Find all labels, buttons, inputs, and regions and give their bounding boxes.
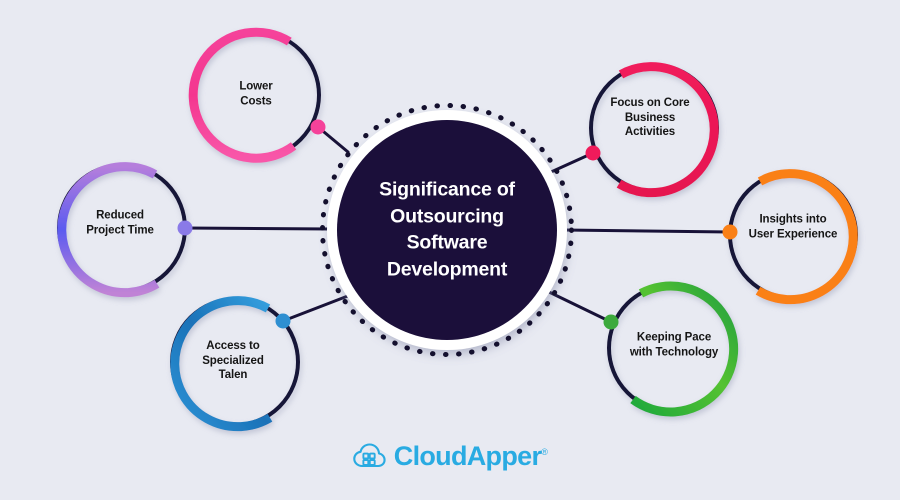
center-title: Significance of Outsourcing Software Dev… bbox=[332, 177, 562, 284]
node-ring-keeping-pace-with-technology[interactable] bbox=[609, 285, 735, 412]
connector-keeping-pace-with-technology bbox=[549, 292, 611, 322]
diagram-stage: Significance of Outsourcing Software Dev… bbox=[0, 0, 900, 500]
connector-insights-into-user-experience bbox=[564, 230, 730, 232]
node-ring-focus-on-core-business-activities[interactable] bbox=[591, 65, 717, 193]
dot-reduced-project-time[interactable] bbox=[178, 221, 193, 236]
center-title-line: Development bbox=[332, 257, 562, 284]
connector-access-to-specialized-talent bbox=[283, 294, 353, 321]
center-title-line: Outsourcing bbox=[332, 203, 562, 230]
brand-trademark: ® bbox=[541, 447, 547, 457]
brand-logo: CloudApper® bbox=[353, 441, 547, 472]
dot-lower-costs[interactable] bbox=[311, 120, 326, 135]
center-title-line: Software bbox=[332, 230, 562, 257]
node-ring-lower-costs[interactable] bbox=[193, 32, 319, 158]
center-title-line: Significance of bbox=[332, 177, 562, 204]
cloud-grid-icon bbox=[353, 442, 387, 472]
dot-keeping-pace-with-technology[interactable] bbox=[604, 315, 619, 330]
node-ring-insights-into-user-experience[interactable] bbox=[730, 172, 856, 300]
node-ring-reduced-project-time[interactable] bbox=[59, 165, 185, 293]
connector-reduced-project-time bbox=[185, 228, 332, 229]
infographic-canvas: Significance of Outsourcing Software Dev… bbox=[0, 0, 900, 500]
brand-name: CloudApper® bbox=[394, 441, 547, 472]
dot-insights-into-user-experience[interactable] bbox=[723, 225, 738, 240]
dot-focus-on-core-business-activities[interactable] bbox=[586, 146, 601, 161]
dot-access-to-specialized-talent[interactable] bbox=[276, 314, 291, 329]
brand-name-text: CloudApper bbox=[394, 441, 542, 471]
